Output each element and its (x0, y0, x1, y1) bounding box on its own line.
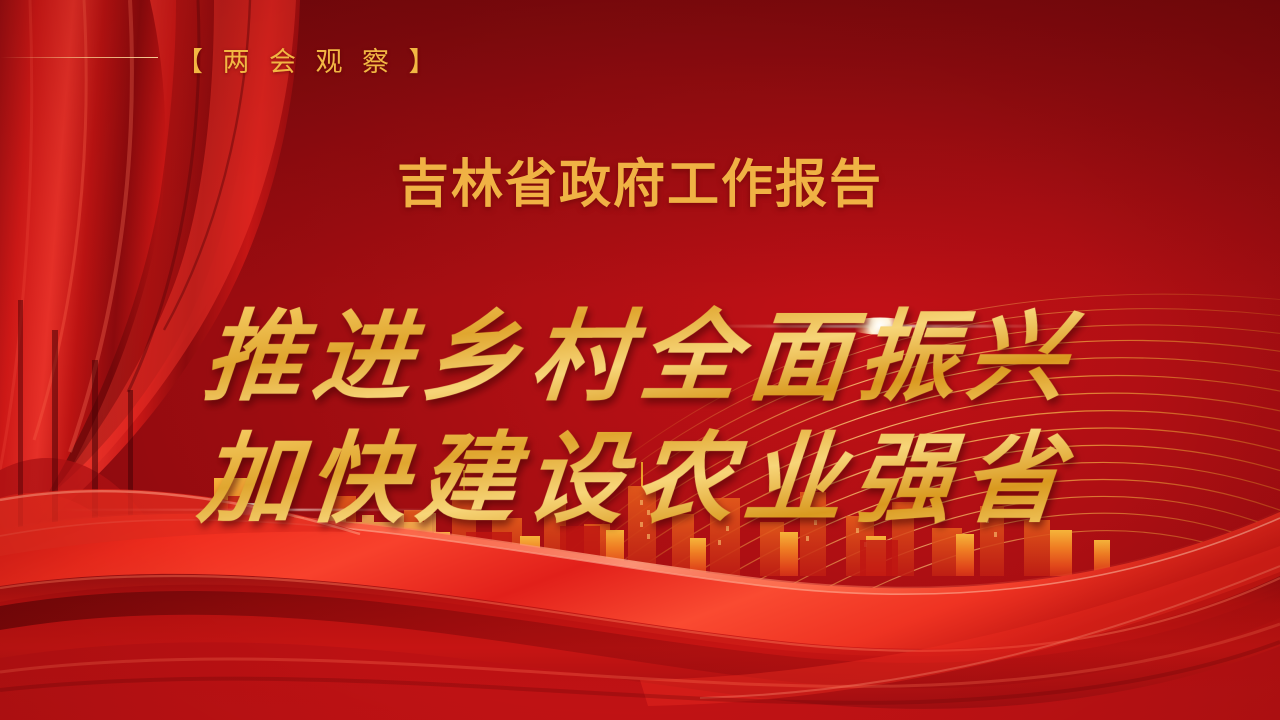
poster-canvas: 【 两 会 观 察 】 吉林省政府工作报告 推进乡村全面振兴 加快建设农业强省 (0, 0, 1280, 720)
top-gold-rule (0, 57, 158, 58)
page-title: 吉林省政府工作报告 (0, 142, 1280, 217)
eyebrow-label: 【 两 会 观 察 】 (176, 40, 442, 79)
background-vignette (0, 0, 1280, 720)
